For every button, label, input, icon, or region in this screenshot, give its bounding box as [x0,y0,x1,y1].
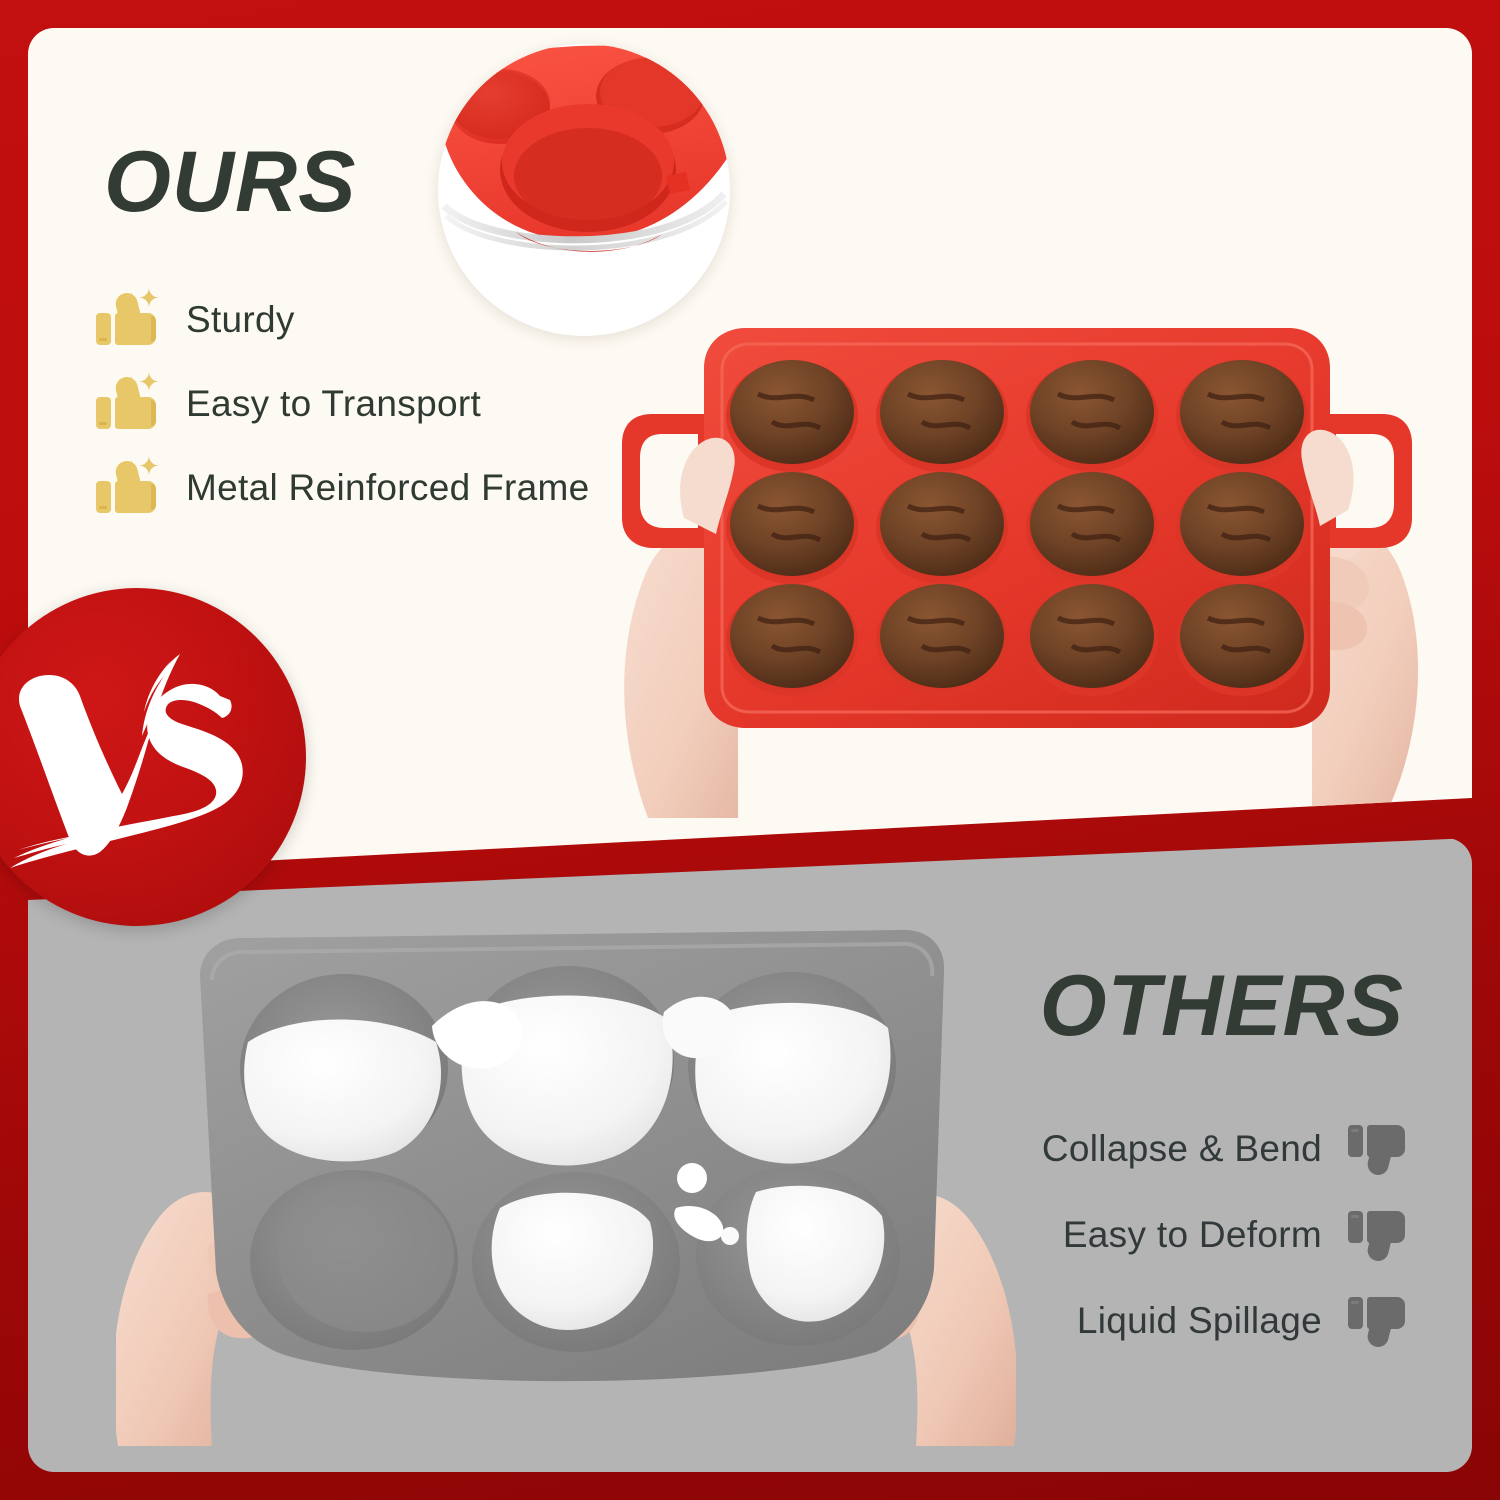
ours-feature-label: Sturdy [186,299,295,341]
others-panel: OTHERS Collapse & Bend Easy to Deform Li… [28,838,1472,1472]
mold-cups-grid [240,966,900,1352]
comparison-infographic: OURS ✦✦ Sturdy ✦✦ Easy to Transport ✦✦ [0,0,1500,1500]
thumbs-down-icon [1348,1207,1404,1263]
thumbs-down-icon [1348,1293,1404,1349]
thumbs-up-sparkle-icon: ✦✦ [96,291,156,349]
others-feature-label: Collapse & Bend [1042,1128,1322,1170]
ours-title: OURS [104,139,356,225]
thumbs-down-icon [1348,1121,1404,1177]
others-feature-item: Easy to Deform [1042,1192,1404,1278]
vs-letters [10,654,243,868]
others-feature-label: Easy to Deform [1063,1214,1322,1256]
photo-red-silicone-muffin-pan [588,218,1472,873]
vs-badge [0,588,306,926]
ours-feature-list: ✦✦ Sturdy ✦✦ Easy to Transport ✦✦ Metal … [96,278,589,530]
others-feature-list: Collapse & Bend Easy to Deform Liquid Sp… [1042,1106,1404,1364]
red-muffin-pan-illustration [588,218,1472,873]
ours-feature-label: Metal Reinforced Frame [186,467,589,509]
ours-feature-item: ✦✦ Easy to Transport [96,362,589,446]
ours-feature-item: ✦✦ Sturdy [96,278,589,362]
ours-feature-label: Easy to Transport [186,383,481,425]
thumbs-up-sparkle-icon: ✦✦ [96,459,156,517]
photo-gray-silicone-mold [116,916,1016,1472]
others-feature-item: Collapse & Bend [1042,1106,1404,1192]
others-feature-label: Liquid Spillage [1077,1300,1322,1342]
vs-brush-lettering [0,588,306,926]
thumbs-up-sparkle-icon: ✦✦ [96,375,156,433]
ours-feature-item: ✦✦ Metal Reinforced Frame [96,446,589,530]
others-title: OTHERS [1040,963,1404,1049]
gray-mold-illustration [116,916,1016,1472]
others-feature-item: Liquid Spillage [1042,1278,1404,1364]
